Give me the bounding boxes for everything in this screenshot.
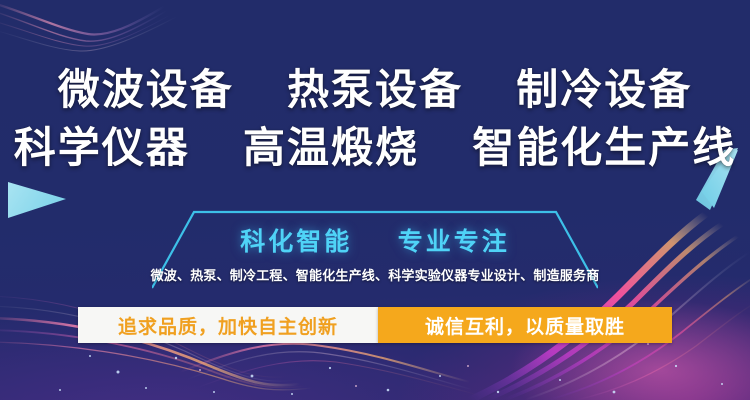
triangle-right-icon bbox=[8, 178, 70, 220]
headline-term-1: 微波设备 bbox=[58, 65, 234, 114]
subtitle-description: 微波、热泵、制冷工程、智能化生产线、科学实验仪器专业设计、制造服务商 bbox=[0, 265, 750, 284]
subtitle-cyan: 科化智能 专业专注 bbox=[0, 222, 750, 258]
headline-line-2: 科学仪器 高温煅烧 智能化生产线 bbox=[0, 125, 750, 171]
slogan-left: 追求品质，加快自主创新 bbox=[78, 307, 378, 343]
headline-line-1: 微波设备 热泵设备 制冷设备 bbox=[0, 67, 750, 113]
headline-term-3: 制冷设备 bbox=[516, 65, 692, 114]
headline-term-2: 热泵设备 bbox=[287, 65, 463, 114]
subtitle-cyan-part-1: 科化智能 bbox=[240, 227, 352, 256]
headline-term-6: 智能化生产线 bbox=[472, 123, 736, 172]
promotional-banner: 微波设备 热泵设备 制冷设备 科学仪器 高温煅烧 智能化生产线 科化智能 专业专… bbox=[0, 0, 750, 400]
slogan-right: 诚信互利，以质量取胜 bbox=[378, 307, 672, 343]
subtitle-cyan-part-2: 专业专注 bbox=[398, 227, 510, 256]
headline-term-4: 科学仪器 bbox=[14, 123, 190, 172]
headline-term-5: 高温煅烧 bbox=[243, 123, 419, 172]
slogan-bar: 追求品质，加快自主创新 诚信互利，以质量取胜 bbox=[78, 307, 672, 343]
